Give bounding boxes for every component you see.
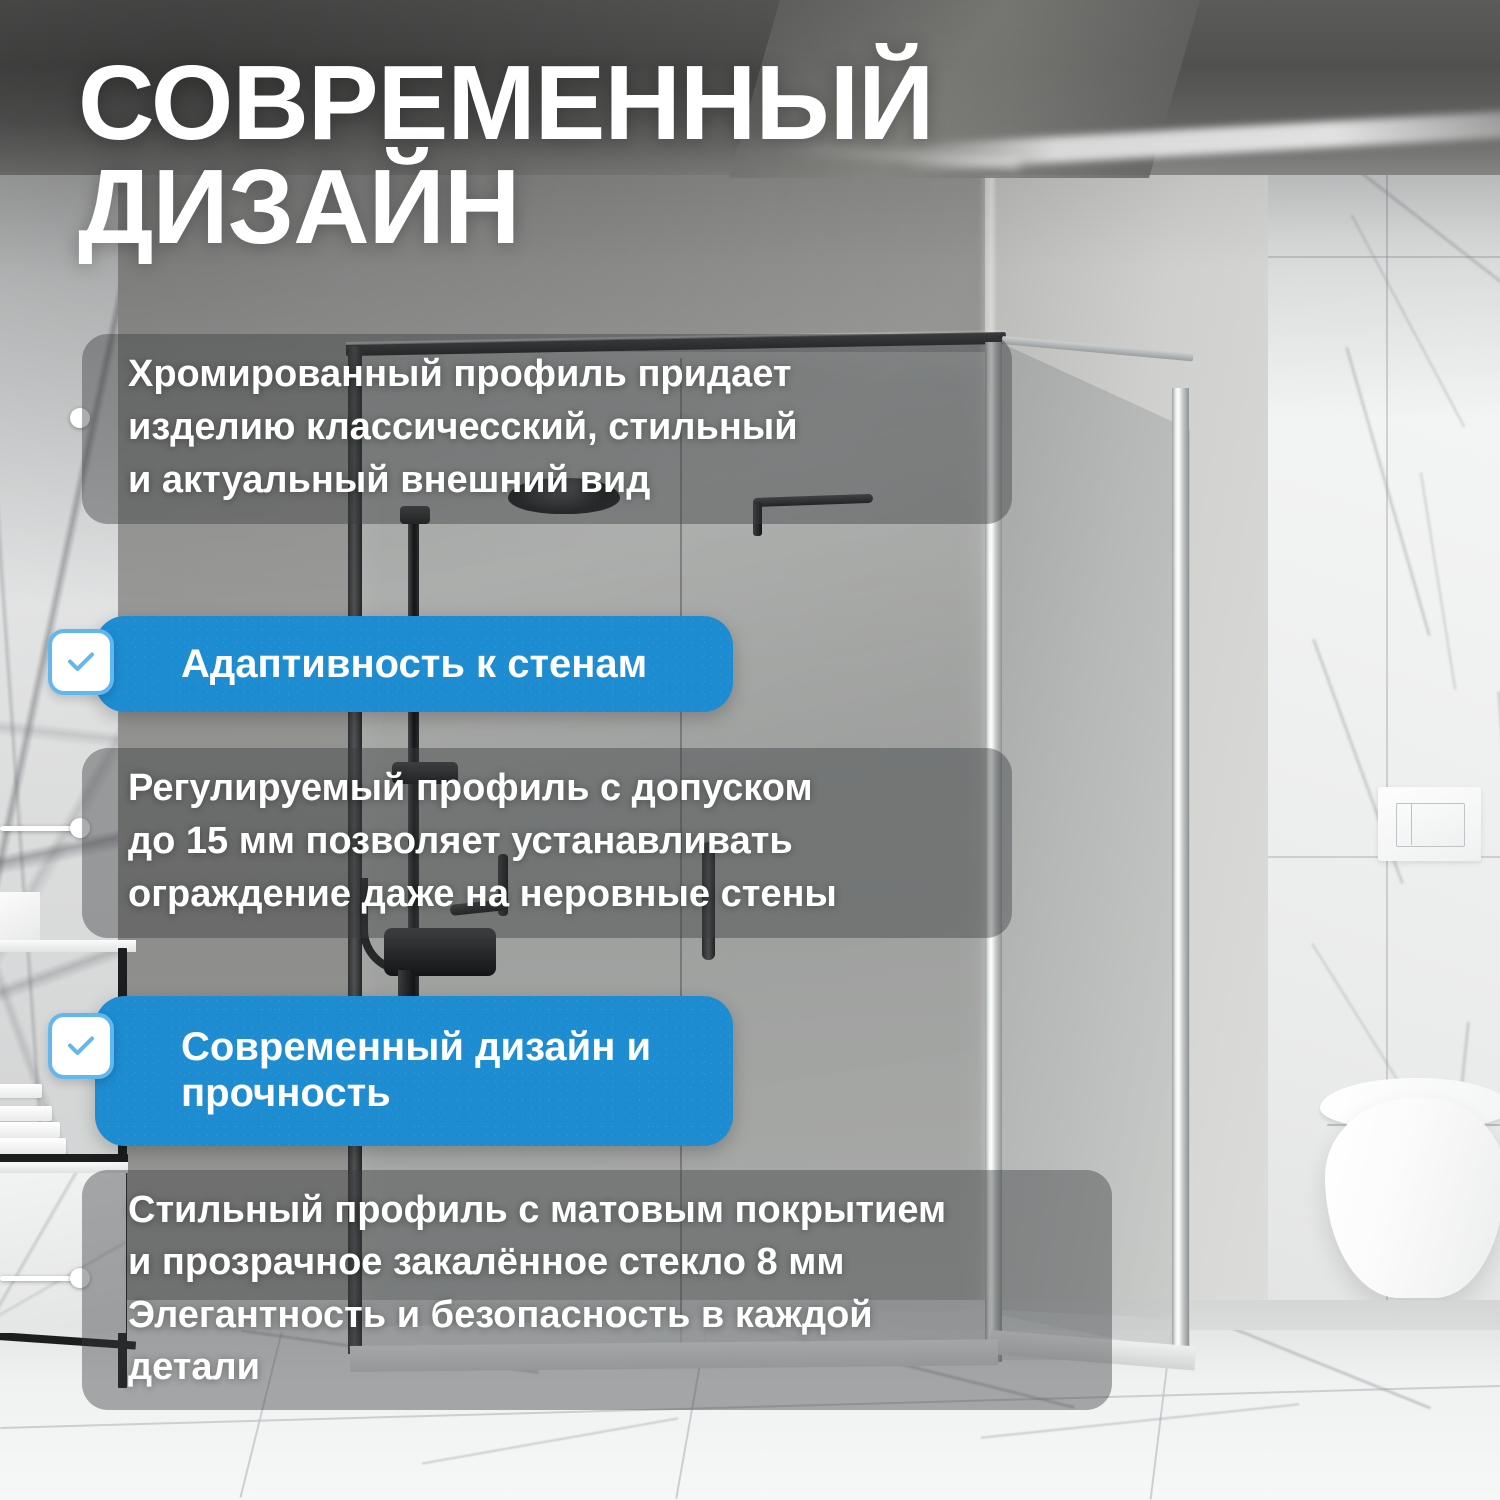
badge-adaptivity[interactable]: Адаптивность к стенам (95, 616, 733, 712)
badge-design-durability[interactable]: Современный дизайн и прочность (95, 996, 733, 1146)
feature-text-3: Стильный профиль с матовым покрытием и п… (82, 1170, 1112, 1410)
check-icon (48, 1013, 114, 1079)
check-icon (48, 629, 114, 695)
badge-label: Адаптивность к стенам (181, 642, 647, 687)
content-overlay: СОВРЕМЕННЫЙ ДИЗАЙН Хромированный профиль… (0, 0, 1500, 1500)
feature-text-1: Хромированный профиль придает изделию кл… (82, 334, 1012, 524)
promo-banner: СОВРЕМЕННЫЙ ДИЗАЙН Хромированный профиль… (0, 0, 1500, 1500)
badge-label: Современный дизайн и прочность (181, 1025, 651, 1116)
feature-text-2: Регулируемый профиль с допуском до 15 мм… (82, 748, 1012, 938)
page-title: СОВРЕМЕННЫЙ ДИЗАЙН (78, 52, 978, 260)
